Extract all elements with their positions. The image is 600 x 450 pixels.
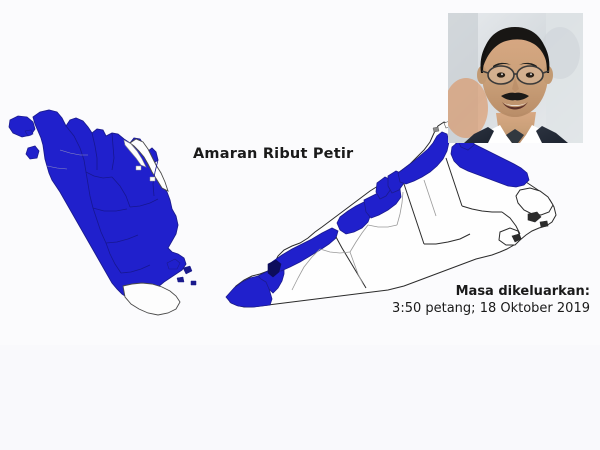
borneo-islet-2 bbox=[433, 127, 439, 132]
peninsular-mainland-shape bbox=[33, 110, 186, 300]
peninsular-islet-6 bbox=[150, 177, 155, 181]
peninsular-islet-3 bbox=[177, 277, 184, 282]
sabah-east-islet-3 bbox=[540, 221, 548, 227]
peninsular-islet-5 bbox=[136, 166, 141, 170]
issue-time-label: Masa dikeluarkan: bbox=[392, 283, 590, 300]
penang-island-shape bbox=[26, 146, 39, 159]
portrait-photo bbox=[448, 13, 583, 143]
peninsular-islet-4 bbox=[191, 281, 196, 285]
weather-warning-graphic: Amaran Ribut Petir Masa dikeluarkan: 3:5… bbox=[0, 0, 600, 450]
peninsular-malaysia-group bbox=[9, 110, 196, 315]
johor-south-shape bbox=[123, 283, 180, 315]
issue-time-block: Masa dikeluarkan: 3:50 petang; 18 Oktobe… bbox=[392, 283, 590, 318]
warning-title: Amaran Ribut Petir bbox=[193, 146, 353, 162]
issue-time-value: 3:50 petang; 18 Oktober 2019 bbox=[392, 300, 590, 318]
portrait-photo-illustration bbox=[448, 13, 583, 143]
